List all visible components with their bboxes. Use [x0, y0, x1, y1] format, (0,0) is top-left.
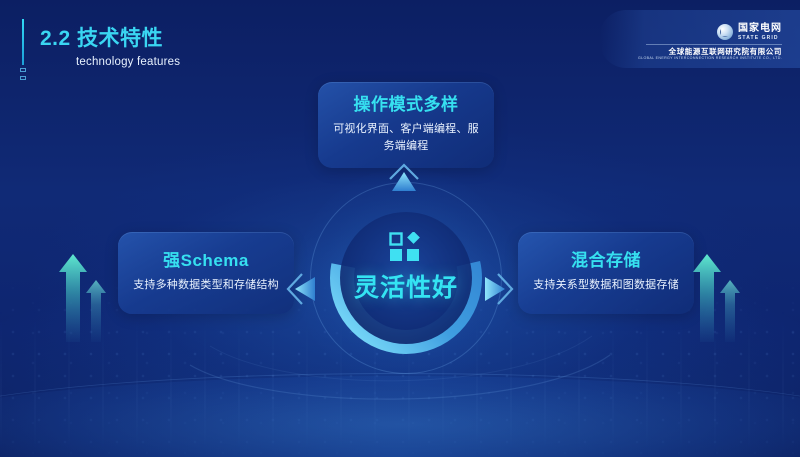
four-squares-icon: [389, 232, 423, 262]
arrow-left-icon: [285, 270, 319, 308]
logo-divider: [646, 44, 782, 45]
feature-card-left-title: 强Schema: [163, 250, 249, 271]
header-tick-marks: [20, 68, 26, 80]
feature-card-right-title: 混合存储: [571, 250, 641, 271]
brand-logo: 国家电网 STATE GRID 全球能源互联网研究院有限公司 GLOBAL EN…: [638, 24, 782, 60]
page-title: 2.2 技术特性: [40, 26, 180, 51]
feature-card-top-title: 操作模式多样: [354, 94, 459, 115]
logo-institute-en: GLOBAL ENERGY INTERCONNECTION RESEARCH I…: [638, 56, 782, 61]
state-grid-globe-icon: [717, 24, 733, 40]
slide-canvas: 2.2 技术特性 technology features 国家电网 STATE …: [0, 0, 800, 457]
logo-primary-row: 国家电网 STATE GRID: [717, 24, 782, 41]
feature-card-right[interactable]: 混合存储 支持关系型数据和图数据存储: [518, 232, 694, 314]
center-hub-label: 灵活性好: [318, 268, 494, 304]
stage-ellipse-glow: [0, 376, 800, 457]
page-subtitle: technology features: [76, 56, 180, 68]
growth-arrows-icon-left: [56, 250, 112, 345]
header-accent-line: [22, 19, 24, 65]
feature-card-left-desc: 支持多种数据类型和存储结构: [133, 277, 279, 294]
feature-card-left[interactable]: 强Schema 支持多种数据类型和存储结构: [118, 232, 294, 314]
feature-card-right-desc: 支持关系型数据和图数据存储: [533, 277, 679, 294]
growth-arrows-icon-right: [690, 250, 746, 345]
feature-card-top[interactable]: 操作模式多样 可视化界面、客户端编程、服务端编程: [318, 82, 494, 168]
arrow-up-icon: [386, 163, 422, 195]
logo-institute-cn: 全球能源互联网研究院有限公司: [669, 47, 782, 56]
logo-name-en: STATE GRID: [738, 35, 782, 41]
arrow-right-icon: [481, 270, 515, 308]
feature-card-top-desc: 可视化界面、客户端编程、服务端编程: [332, 121, 480, 154]
logo-name-block: 国家电网 STATE GRID: [738, 24, 782, 41]
logo-name-cn: 国家电网: [738, 24, 782, 35]
center-hub[interactable]: 灵活性好: [318, 190, 494, 366]
header-text-group: 2.2 技术特性 technology features: [40, 26, 180, 68]
